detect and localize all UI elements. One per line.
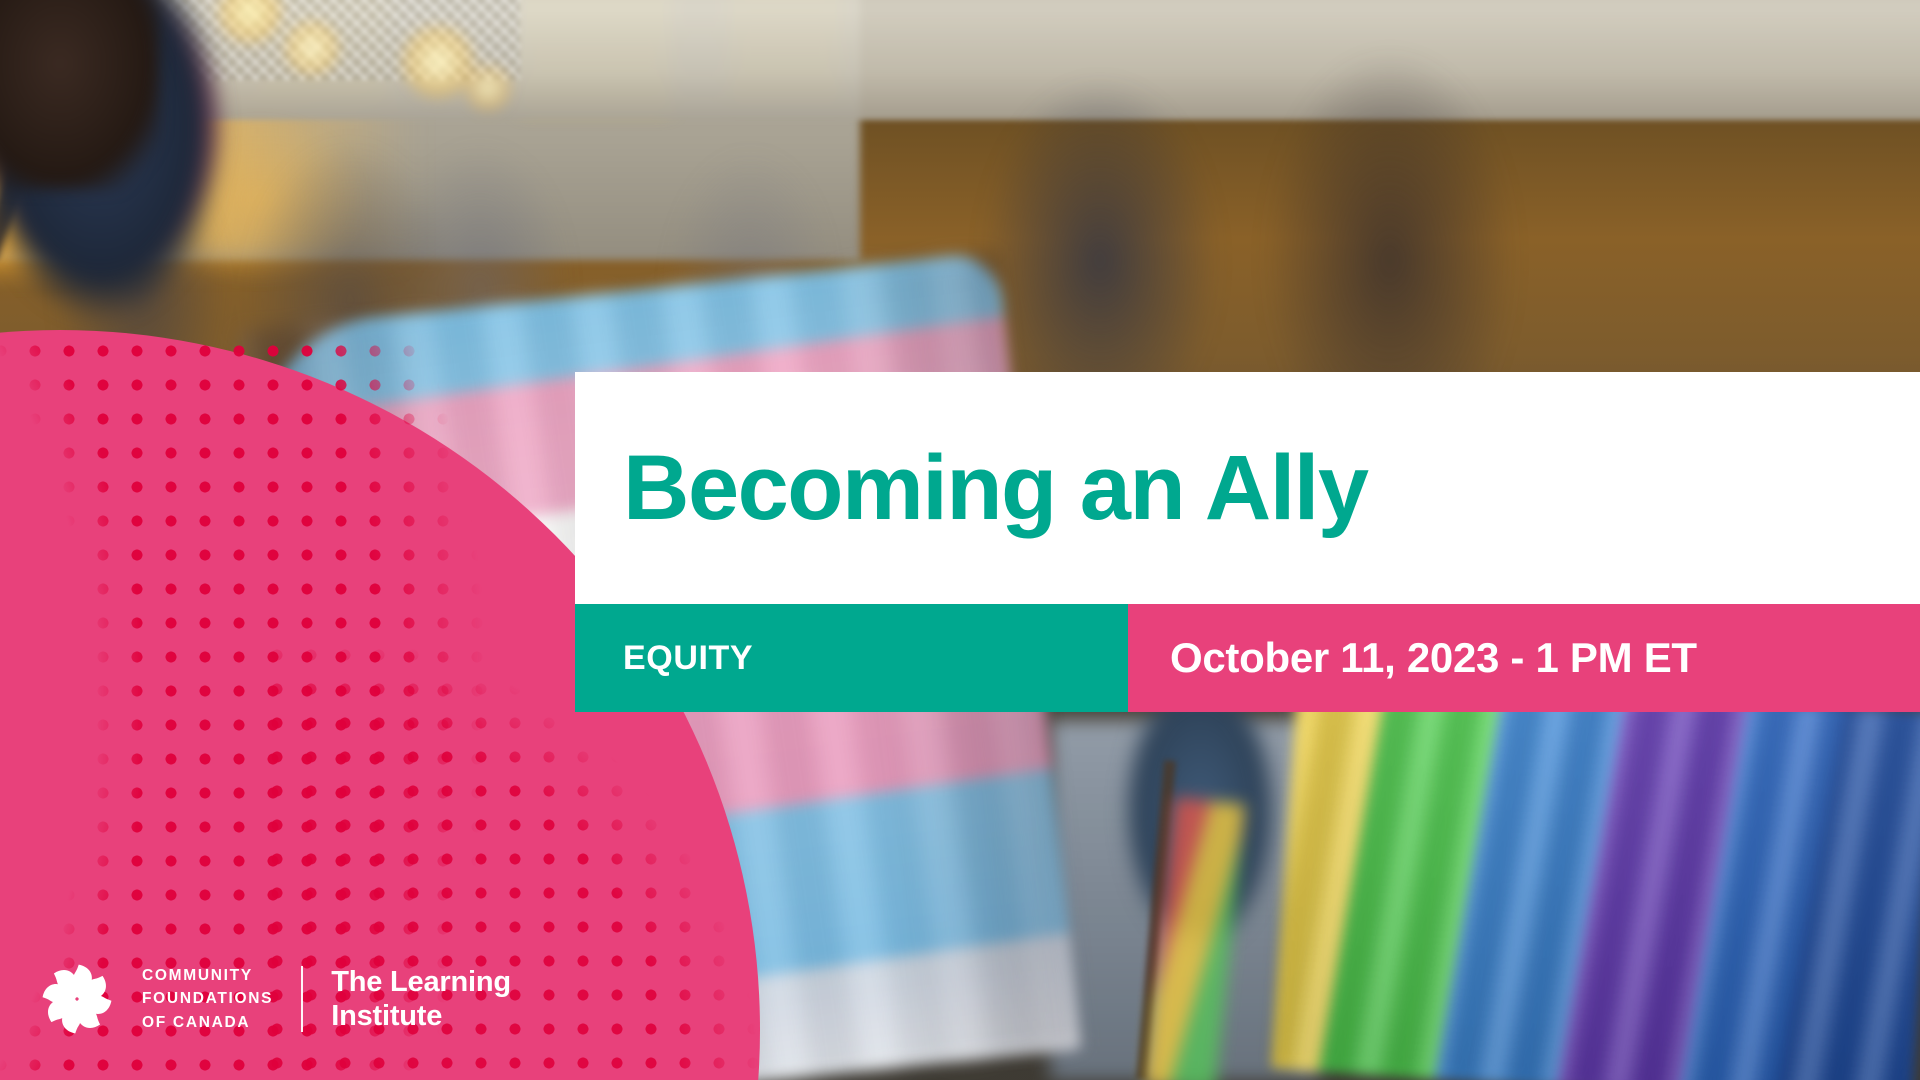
logo-wordmark-line-2: FOUNDATIONS — [142, 987, 273, 1010]
date-badge: October 11, 2023 - 1 PM ET — [1128, 604, 1920, 712]
logo-wordmark: COMMUNITY FOUNDATIONS OF CANADA — [142, 964, 273, 1034]
logo-divider — [301, 966, 303, 1032]
logo-lockup: COMMUNITY FOUNDATIONS OF CANADA The Lear… — [34, 956, 511, 1042]
photo-person-far-right — [0, 0, 160, 190]
logo-sub-brand: The Learning Institute — [331, 965, 511, 1033]
logo-wordmark-line-3: OF CANADA — [142, 1011, 273, 1034]
title-card: Becoming an Ally — [575, 372, 1920, 604]
category-badge: EQUITY — [575, 604, 1128, 712]
date-label: October 11, 2023 - 1 PM ET — [1128, 634, 1697, 682]
promo-banner: Becoming an Ally EQUITY October 11, 2023… — [0, 0, 1920, 1080]
meta-bar: EQUITY October 11, 2023 - 1 PM ET — [575, 604, 1920, 712]
community-foundations-pinwheel-icon — [34, 956, 120, 1042]
logo-sub-line-1: The Learning — [331, 965, 511, 999]
logo-sub-line-2: Institute — [331, 999, 511, 1033]
category-label: EQUITY — [575, 639, 753, 678]
logo-wordmark-line-1: COMMUNITY — [142, 964, 273, 987]
rainbow-pride-flag-shading — [1272, 668, 1920, 1080]
page-title: Becoming an Ally — [575, 442, 1368, 534]
